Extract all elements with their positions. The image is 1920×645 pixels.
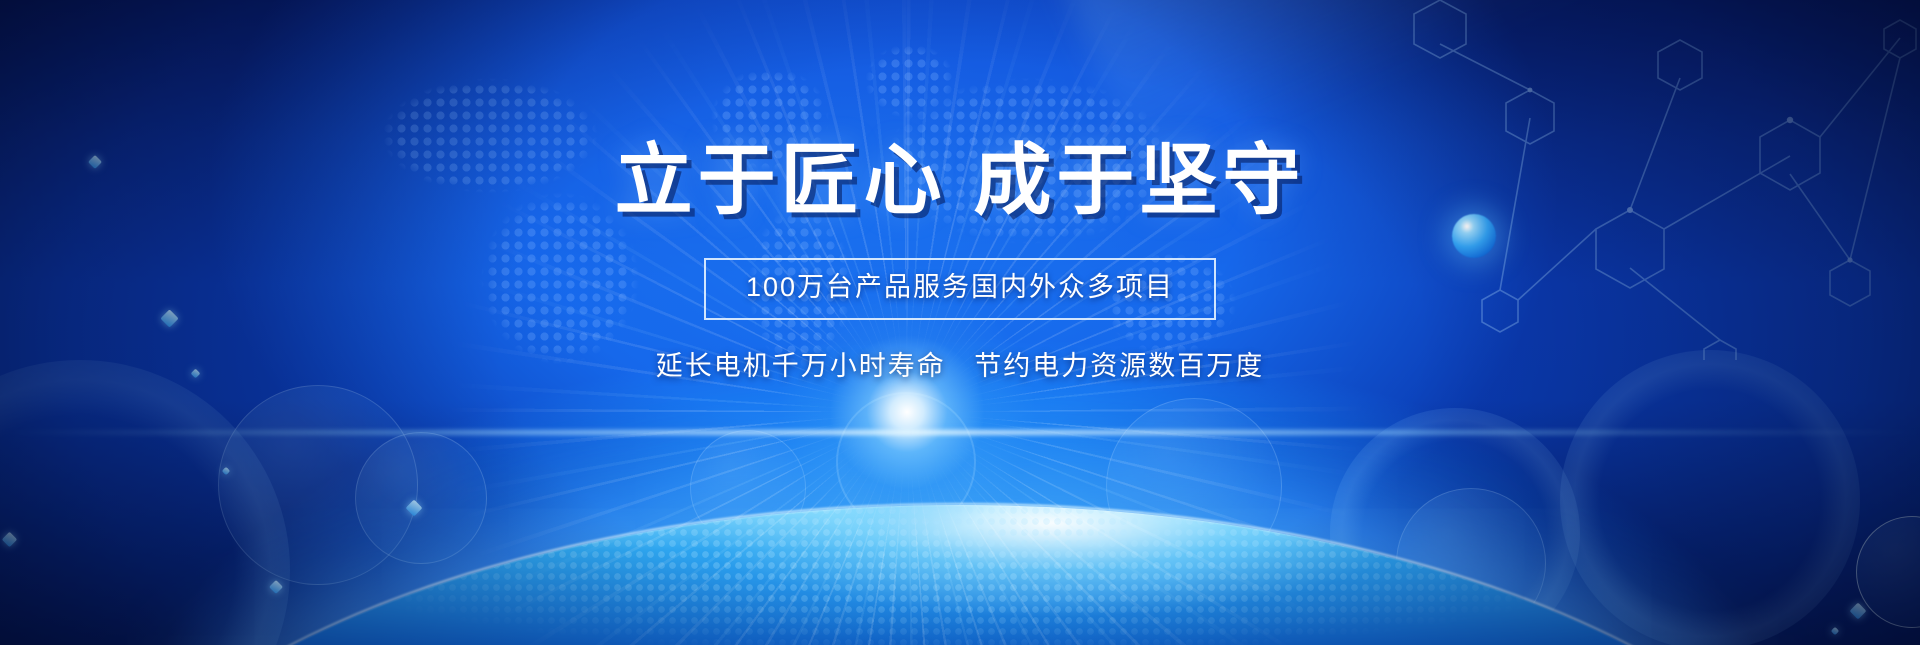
banner-subline: 延长电机千万小时寿命 节约电力资源数百万度 [0, 344, 1920, 383]
banner-content: 立于匠心 成于坚守 100万台产品服务国内外众多项目 延长电机千万小时寿命 节约… [0, 0, 1920, 383]
hero-banner: 立于匠心 成于坚守 100万台产品服务国内外众多项目 延长电机千万小时寿命 节约… [0, 0, 1920, 645]
bokeh-circle [0, 360, 290, 645]
sparkle-icon [1831, 627, 1839, 635]
sparkle-icon [1850, 603, 1867, 620]
banner-headline: 立于匠心 成于坚守 [0, 0, 1920, 221]
horizontal-light-streak [0, 430, 1920, 435]
banner-tagline-box: 100万台产品服务国内外众多项目 [704, 258, 1216, 319]
bokeh-circle [1560, 350, 1860, 645]
